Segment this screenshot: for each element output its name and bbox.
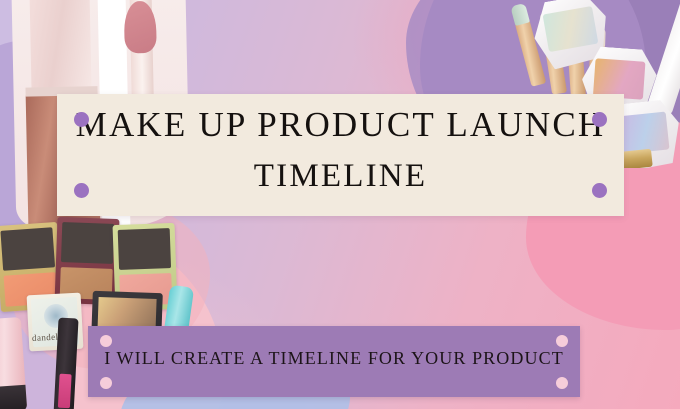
corner-dot-top-right [592, 112, 607, 127]
compact-lid-3 [118, 228, 171, 270]
mascara-label [58, 374, 72, 409]
banner-dot-bottom-left [100, 377, 112, 389]
lip-gloss-cap [29, 0, 91, 93]
gig-thumbnail-canvas: FENTY BE dandelion Make Up Product Launc… [0, 0, 680, 409]
compact-lid-1 [0, 227, 55, 271]
banner-dot-top-right [556, 335, 568, 347]
page-title-line-1: Make Up Product Launch [57, 107, 624, 142]
compact-lid-2 [61, 222, 114, 264]
title-card: Make Up Product Launch Timeline [57, 94, 624, 216]
corner-dot-bottom-left [74, 183, 89, 198]
banner-dot-top-left [100, 335, 112, 347]
primer-stick [0, 317, 27, 409]
corner-dot-top-left [74, 112, 89, 127]
corner-dot-bottom-right [592, 183, 607, 198]
banner-dot-bottom-right [556, 377, 568, 389]
highlighter-pan-1 [543, 6, 599, 52]
primer-stick-base [0, 385, 27, 409]
page-title-line-2: Timeline [57, 160, 624, 193]
lipstick-cap-1 [510, 3, 530, 26]
subtitle-text: I will create a timeline for your produc… [88, 348, 580, 369]
white-brush-handle [647, 0, 680, 115]
subtitle-banner: I will create a timeline for your produc… [88, 326, 580, 397]
mascara-tube [53, 318, 78, 409]
